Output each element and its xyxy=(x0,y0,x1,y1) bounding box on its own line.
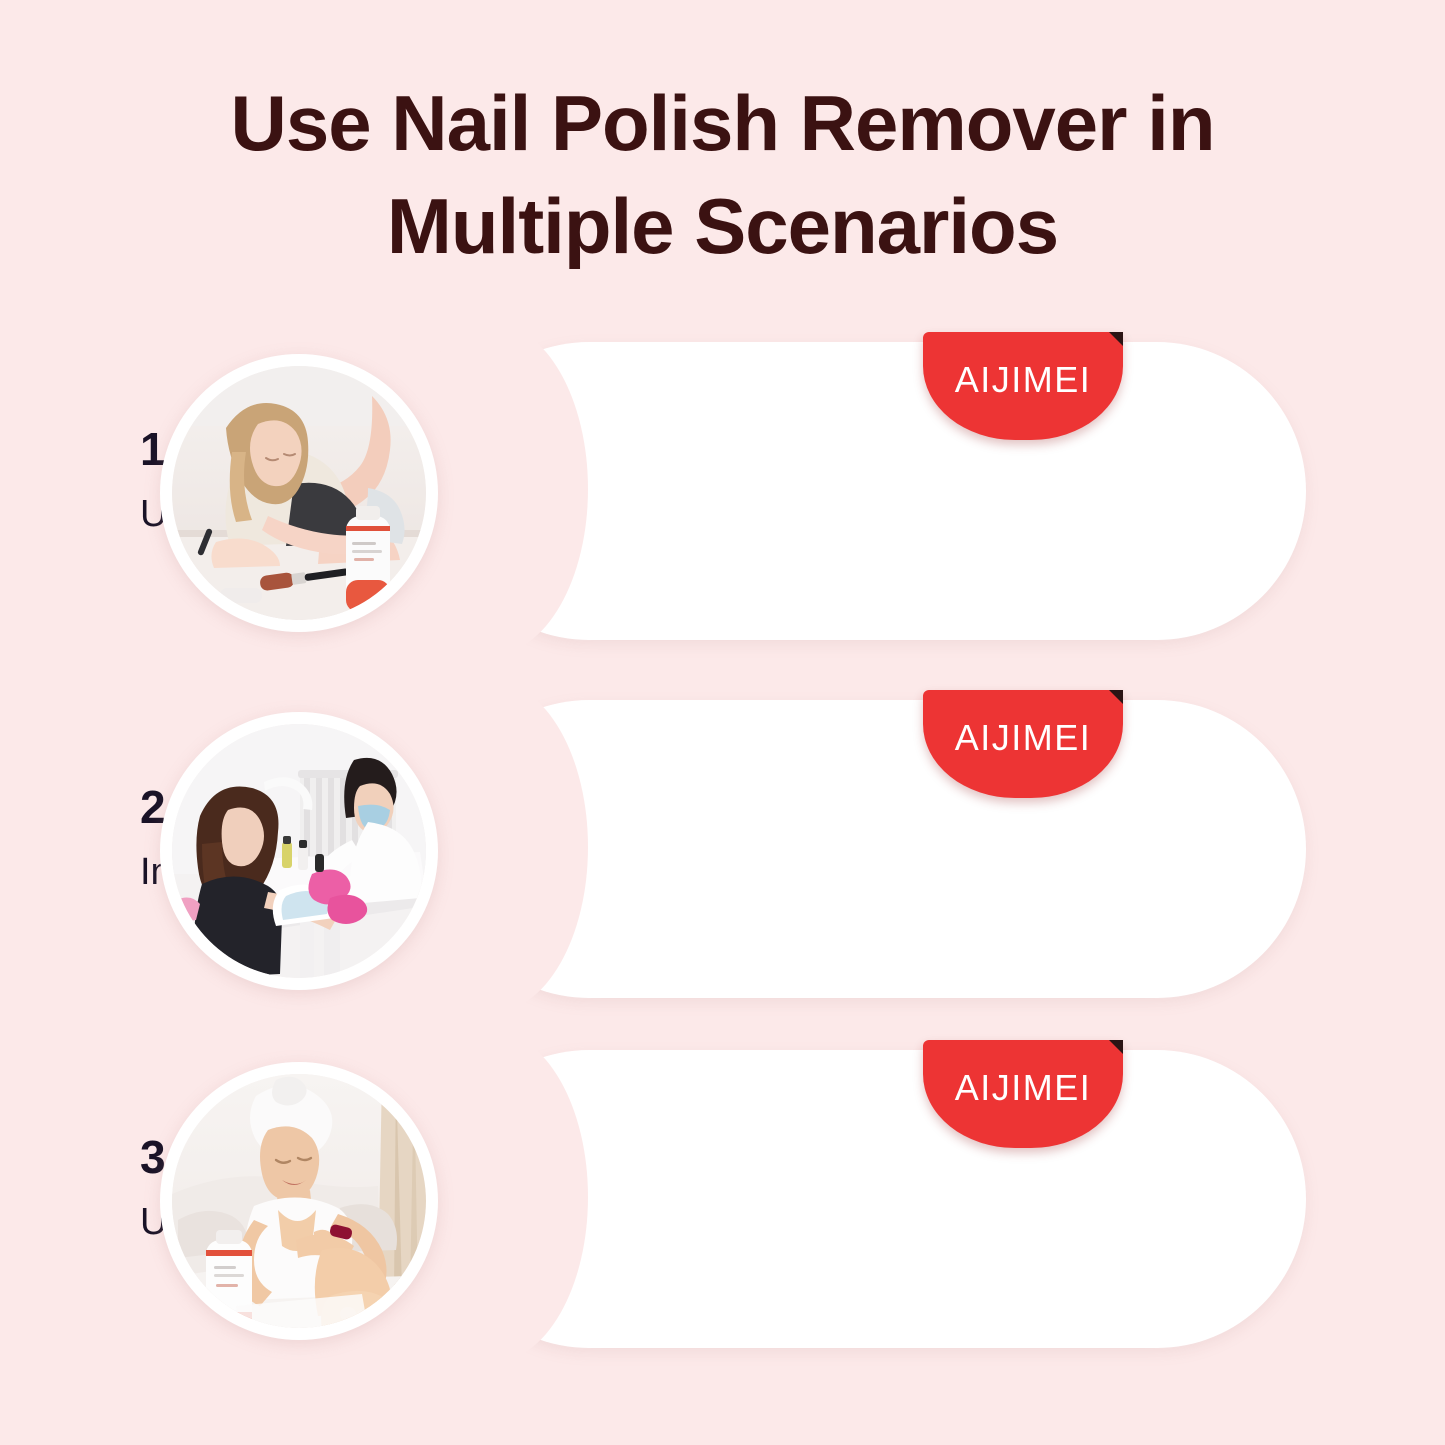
brand-badge-2: AIJIMEI xyxy=(923,690,1123,798)
photo-image-salon xyxy=(172,724,426,978)
scenario-photo-1 xyxy=(160,354,438,632)
scenario-photo-3 xyxy=(160,1062,438,1340)
brand-badge-3: AIJIMEI xyxy=(923,1040,1123,1148)
promo-banner: Use Nail Polish Remover in Multiple Scen… xyxy=(0,0,1445,1445)
badge-label-1: AIJIMEI xyxy=(923,332,1123,440)
photo-image-home xyxy=(172,1074,426,1328)
scenario-photo-2 xyxy=(160,712,438,990)
photo-image-friends xyxy=(172,366,426,620)
brand-badge-1: AIJIMEI xyxy=(923,332,1123,440)
page-title-line-2: Multiple Scenarios xyxy=(0,175,1445,278)
page-title: Use Nail Polish Remover in Multiple Scen… xyxy=(0,72,1445,278)
badge-label-3: AIJIMEI xyxy=(923,1040,1123,1148)
scenario-row-1: 1. Use with friends. xyxy=(0,330,1445,650)
badge-label-2: AIJIMEI xyxy=(923,690,1123,798)
page-title-line-1: Use Nail Polish Remover in xyxy=(0,72,1445,175)
scenario-row-2: 2. In Salon. xyxy=(0,688,1445,1008)
scenario-row-3: 3. Use at home. xyxy=(0,1038,1445,1358)
